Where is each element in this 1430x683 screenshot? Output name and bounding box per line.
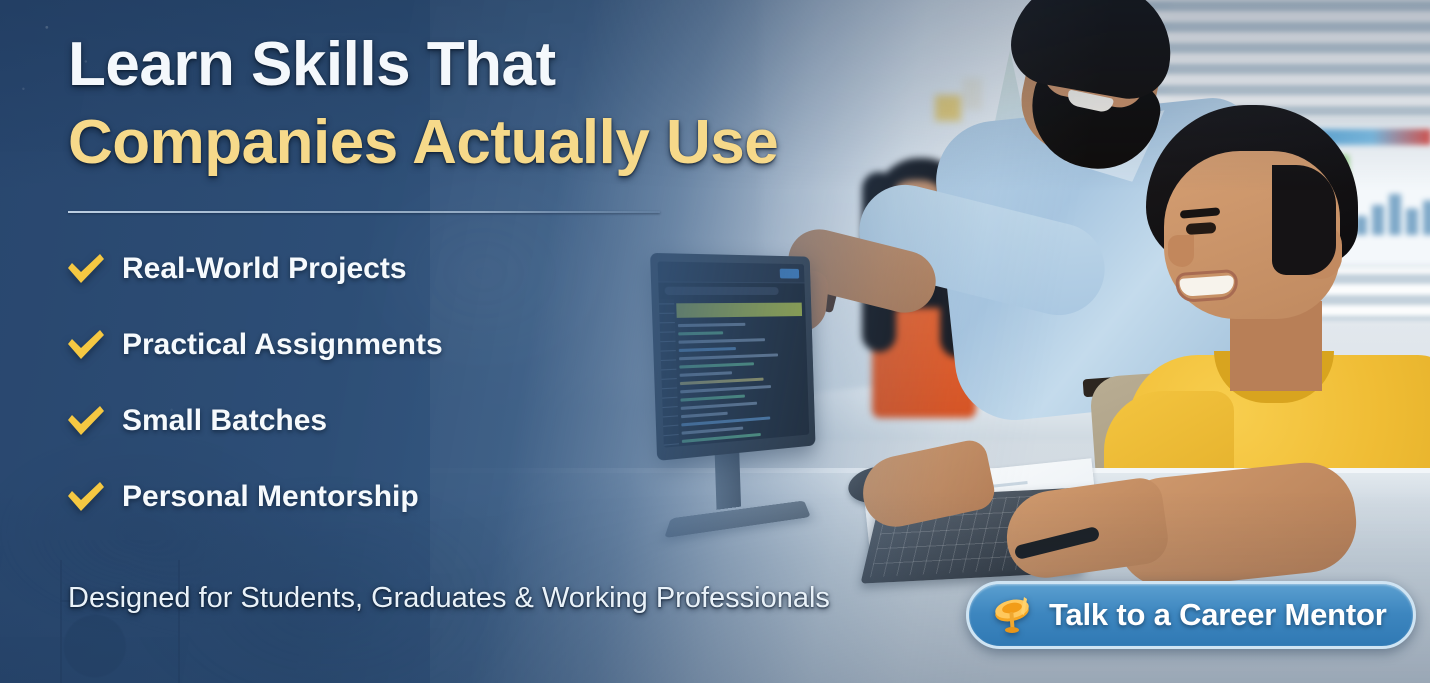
feature-item-real-world-projects: Real-World Projects <box>64 244 443 294</box>
feature-label: Practical Assignments <box>122 328 443 362</box>
check-icon <box>64 251 108 287</box>
graduation-cap-icon <box>991 593 1037 637</box>
page-title: Learn Skills That Companies Actually Use <box>68 26 888 182</box>
check-icon <box>64 403 108 439</box>
check-icon <box>64 327 108 363</box>
promo-banner: Learn Skills That Companies Actually Use… <box>0 0 1430 683</box>
banner-tagline: Designed for Students, Graduates & Worki… <box>68 582 830 615</box>
check-icon <box>64 479 108 515</box>
feature-label: Small Batches <box>122 404 327 438</box>
feature-item-small-batches: Small Batches <box>64 396 443 446</box>
headline-line-2: Companies Actually Use <box>68 104 888 182</box>
banner-content: Learn Skills That Companies Actually Use… <box>0 0 1430 683</box>
feature-label: Real-World Projects <box>122 252 407 286</box>
feature-list: Real-World Projects Practical Assignment… <box>64 244 443 548</box>
headline-line-1: Learn Skills That <box>68 26 888 104</box>
headline-divider <box>68 211 660 213</box>
talk-to-career-mentor-button[interactable]: Talk to a Career Mentor <box>966 581 1416 649</box>
feature-label: Personal Mentorship <box>122 480 419 514</box>
feature-item-practical-assignments: Practical Assignments <box>64 320 443 370</box>
cta-label: Talk to a Career Mentor <box>1049 597 1387 633</box>
feature-item-personal-mentorship: Personal Mentorship <box>64 472 443 522</box>
